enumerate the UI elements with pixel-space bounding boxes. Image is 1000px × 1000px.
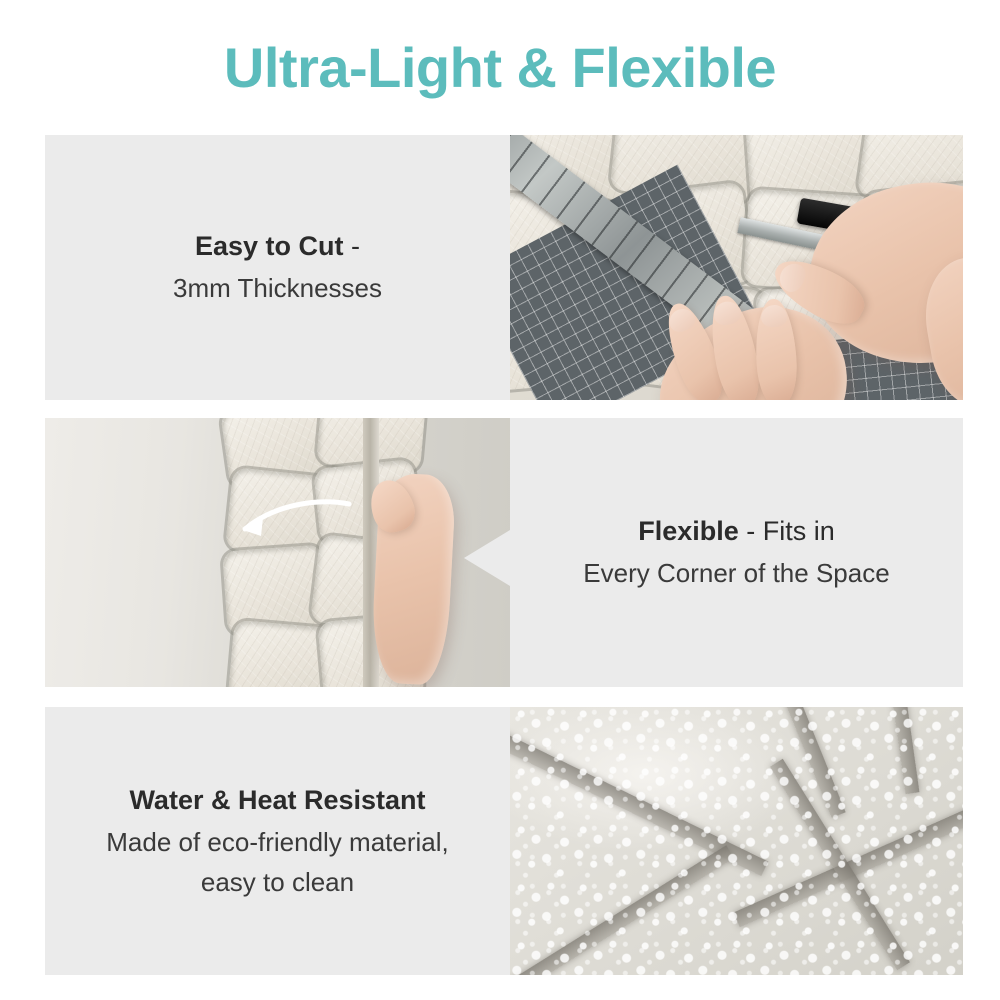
fingernail [761,304,788,327]
feature-title-suffix: - Fits in [746,516,835,546]
bending-photo [45,418,510,687]
feature-subtitle-line-2: easy to clean [201,862,354,902]
feature-image-water-heat-resistant [510,707,963,975]
feature-title-row: Easy to Cut - [195,226,360,268]
feature-subtitle-line-1: Made of eco-friendly material, [106,822,448,862]
stone-cell [222,545,328,636]
feature-text-easy-to-cut: Easy to Cut - 3mm Thicknesses [45,135,510,400]
feature-title-row: Water & Heat Resistant [129,780,425,822]
panel-notch [464,530,510,586]
white-wall [45,418,250,687]
feature-text-water-heat-resistant: Water & Heat Resistant Made of eco-frien… [45,707,510,975]
feature-title-row: Flexible - Fits in [638,511,835,553]
feature-title-suffix: - [351,231,360,261]
feature-text-flexible: Flexible - Fits in Every Corner of the S… [510,418,963,687]
feature-title: Easy to Cut [195,231,344,261]
feature-title: Water & Heat Resistant [129,785,425,815]
product-infographic: Ultra-Light & Flexible Easy to Cut - 3mm… [0,0,1000,1000]
stone-cell [228,620,335,687]
feature-row-water-heat-resistant: Water & Heat Resistant Made of eco-frien… [45,707,963,975]
feature-image-flexible [45,418,510,687]
feature-row-easy-to-cut: Easy to Cut - 3mm Thicknesses [45,135,963,400]
cutting-photo [510,135,963,400]
feature-image-easy-to-cut [510,135,963,400]
water-droplet-photo [510,707,963,975]
feature-row-flexible: Flexible - Fits in Every Corner of the S… [45,418,963,687]
feature-subtitle: Every Corner of the Space [583,553,889,593]
bend-arrow-icon [223,496,353,546]
water-droplets-small [510,707,963,975]
feature-title: Flexible [638,516,739,546]
feature-subtitle: 3mm Thicknesses [173,268,382,308]
page-title: Ultra-Light & Flexible [0,36,1000,100]
